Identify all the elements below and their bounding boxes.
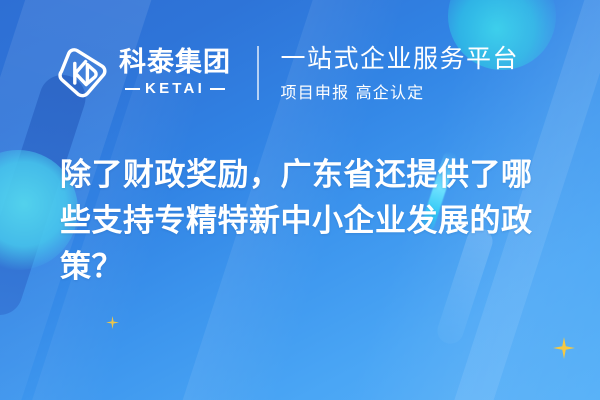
headline-text: 除了财政奖励，广东省还提供了哪些支持专精特新中小企业发展的政策？ [60, 152, 560, 290]
brand-name-cn: 科泰集团 [119, 49, 231, 77]
promo-banner: 科泰集团 KETAI 一站式企业服务平台 项目申报 高企认定 除了财政奖励，广东… [0, 0, 600, 400]
brand-logo: 科泰集团 KETAI [56, 46, 231, 100]
brand-name-en: KETAI [145, 80, 205, 97]
sparkle-star-small-icon [106, 316, 119, 329]
banner-header: 科泰集团 KETAI 一站式企业服务平台 项目申报 高企认定 [56, 44, 519, 103]
brand-wordmark: 科泰集团 KETAI [119, 49, 231, 97]
brand-name-en-row: KETAI [125, 80, 225, 97]
wordmark-rule-left [125, 88, 140, 91]
ketai-diamond-kd-mark-icon [56, 46, 110, 100]
header-divider [257, 46, 259, 100]
tagline-secondary: 项目申报 高企认定 [281, 79, 520, 103]
tagline-block: 一站式企业服务平台 项目申报 高企认定 [281, 44, 520, 103]
tagline-primary: 一站式企业服务平台 [281, 44, 520, 74]
wordmark-rule-right [210, 88, 225, 91]
sparkle-star-large-icon [553, 337, 575, 359]
